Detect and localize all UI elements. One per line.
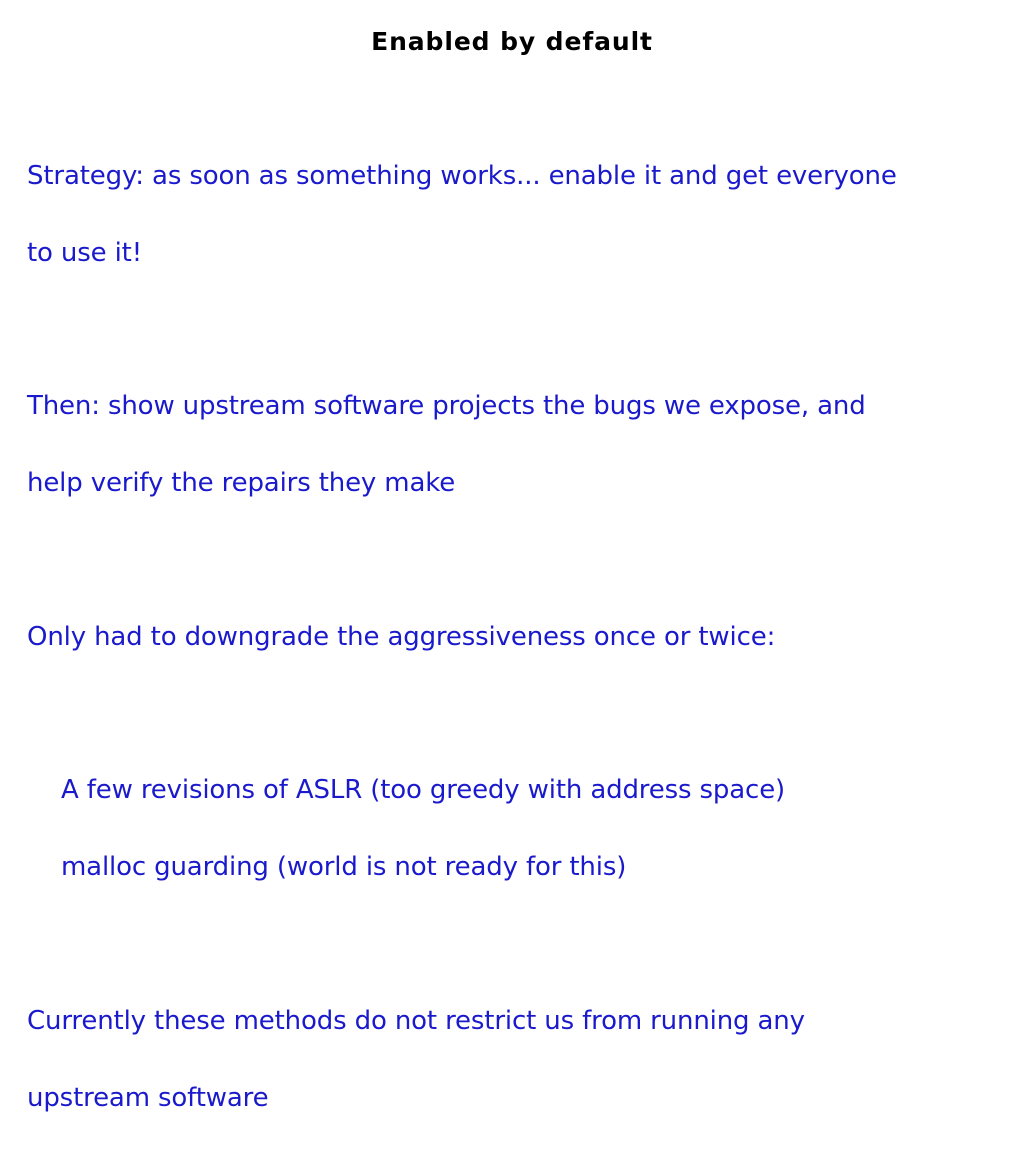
slide-body: Strategy: as soon as something works... … [27,118,987,1156]
presentation-slide: Enabled by default Strategy: as soon as … [0,0,1024,768]
body-line: help verify the repairs they make [27,464,987,503]
body-line: Currently these methods do not restrict … [27,1002,987,1041]
body-line: A few revisions of ASLR (too greedy with… [61,771,987,810]
body-paragraph-indented: A few revisions of ASLR (too greedy with… [61,733,987,926]
body-line: Only had to downgrade the aggressiveness… [27,618,987,657]
body-line: upstream software [27,1079,987,1118]
slide-title: Enabled by default [0,26,1024,58]
body-line: to use it! [27,234,987,273]
body-paragraph: Then: show upstream software projects th… [27,349,987,542]
body-line: Then: show upstream software projects th… [27,387,987,426]
body-line: malloc guarding (world is not ready for … [61,848,987,887]
body-paragraph: Currently these methods do not restrict … [27,963,987,1156]
body-line: Strategy: as soon as something works... … [27,157,987,196]
body-paragraph: Strategy: as soon as something works... … [27,118,987,311]
body-paragraph: Only had to downgrade the aggressiveness… [27,579,987,695]
